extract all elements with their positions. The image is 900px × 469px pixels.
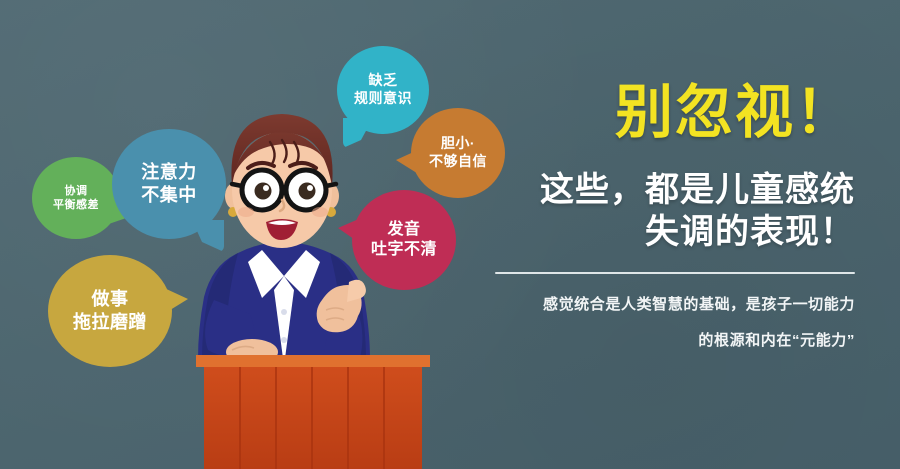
bubble-rules[interactable]: 缺乏 规则意识: [337, 46, 429, 134]
button-2: [281, 337, 287, 343]
bubble-coordination-line-2: 平衡感差: [53, 198, 99, 212]
podium-top: [196, 355, 430, 367]
bubble-procrastination-line-1: 做事: [92, 288, 129, 311]
bubble-procrastination-line-2: 拖拉磨蹭: [73, 311, 147, 334]
bubble-attention[interactable]: 注意力 不集中: [112, 129, 226, 239]
blush-left: [238, 207, 254, 217]
bubble-tail-icon: [162, 287, 188, 315]
headline-panel: 别忽视！ 这些，都是儿童感统 失调的表现！ 感觉统合是人类智慧的基础，是孩子一切…: [470, 0, 900, 469]
eye-right: [299, 183, 316, 200]
bubble-attention-line-1: 注意力: [141, 161, 197, 184]
bubble-procrastination[interactable]: 做事 拖拉磨蹭: [48, 255, 172, 367]
bubble-tail-icon: [338, 218, 361, 244]
blush-right: [312, 207, 328, 217]
bubble-speech-line-1: 发音: [387, 220, 420, 240]
headline-main: 别忽视！: [615, 84, 855, 142]
bubble-coordination[interactable]: 协调 平衡感差: [32, 157, 120, 239]
bubble-coordination-line-1: 协调: [65, 184, 88, 198]
promotional-banner: 协调 平衡感差 注意力 不集中 做事 拖拉磨蹭 缺乏 规则意识 胆小· 不够自信…: [0, 0, 900, 469]
headline-sub-line-2: 失调的表现！: [645, 212, 855, 252]
body-text-line-2: 的根源和内在“元能力”: [698, 330, 855, 353]
divider: [495, 272, 855, 274]
body-text-line-1: 感觉统合是人类智慧的基础，是孩子一切能力: [543, 294, 855, 317]
bubble-tail-icon: [343, 118, 373, 148]
bubble-attention-line-2: 不集中: [141, 184, 197, 207]
bubble-speech-line-2: 吐字不清: [371, 240, 437, 260]
bubble-rules-line-1: 缺乏: [369, 72, 398, 90]
eye-left: [255, 183, 272, 200]
bubble-speech[interactable]: 发音 吐字不清: [352, 190, 456, 290]
button-1: [281, 309, 287, 315]
bubble-tail-icon: [192, 220, 224, 252]
bubble-tail-icon: [396, 149, 420, 175]
bubble-rules-line-2: 规则意识: [354, 90, 412, 108]
headline-sub-line-1: 这些，都是儿童感统: [540, 170, 855, 210]
